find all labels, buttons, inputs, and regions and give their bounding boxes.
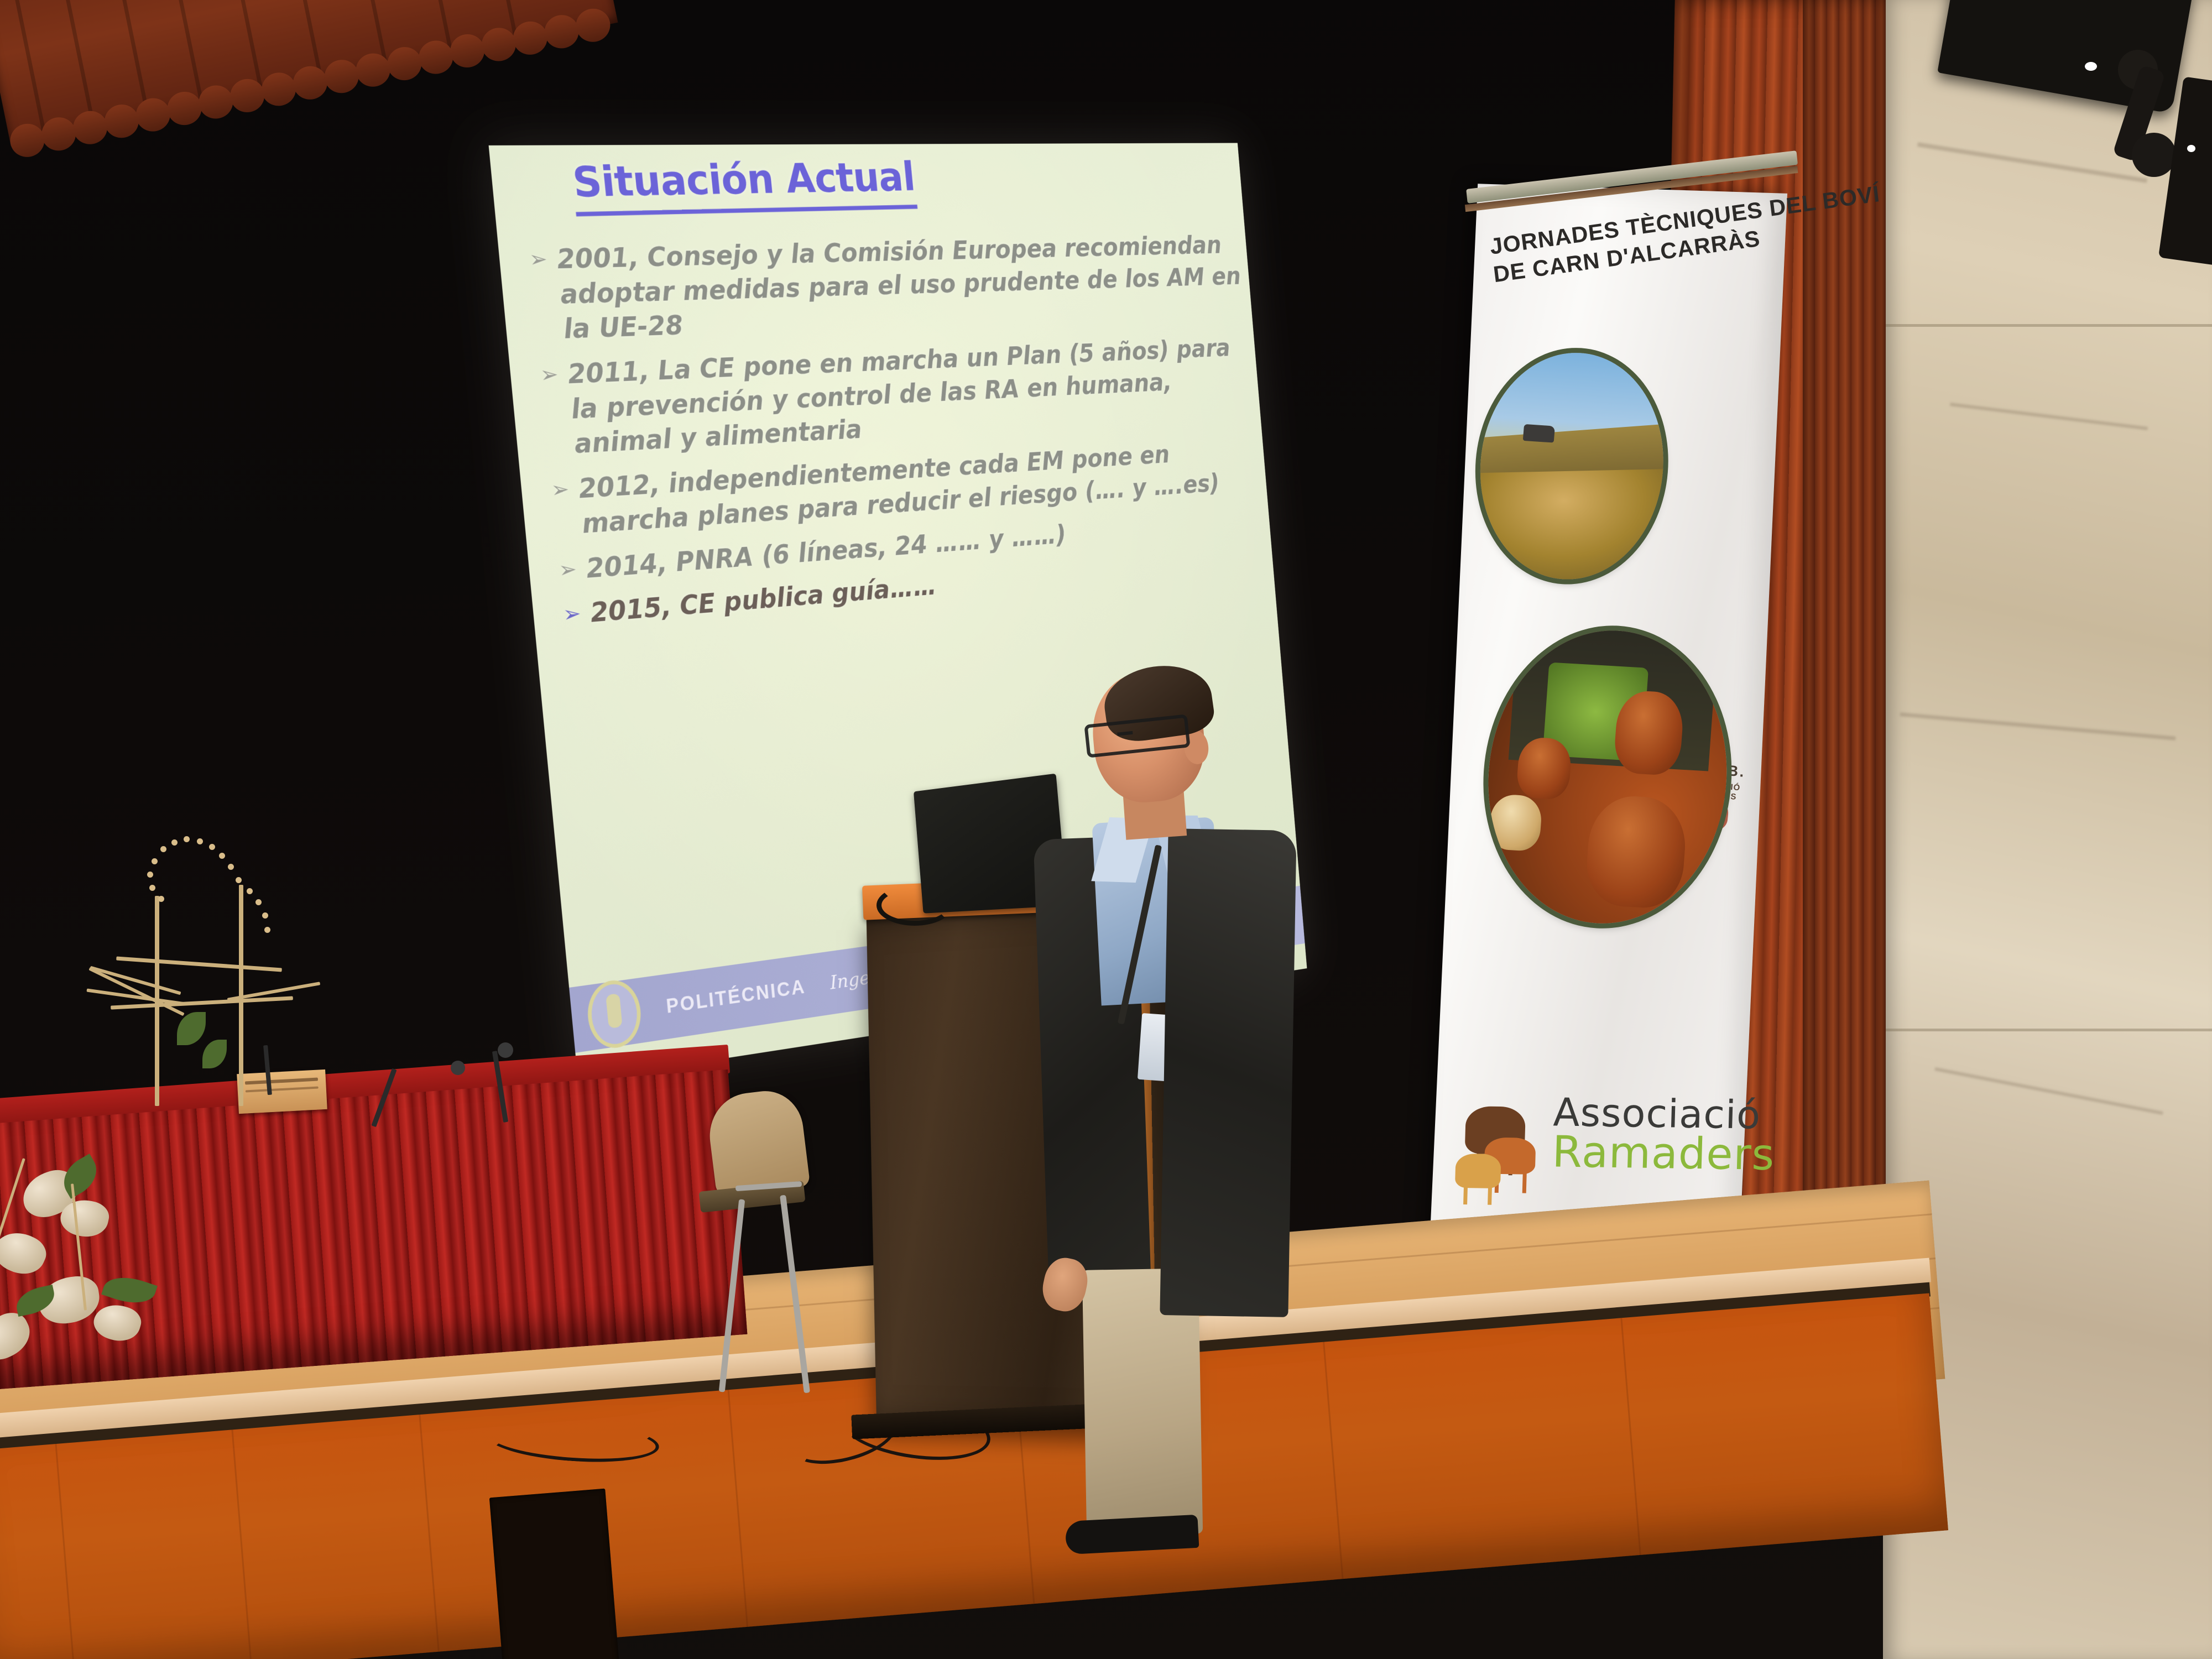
banner-photo-cattle	[1478, 624, 1736, 930]
banner-photo-pasture	[1472, 347, 1672, 585]
bullet-arrow-icon: ➢	[528, 242, 549, 277]
university-seal-icon	[585, 977, 644, 1052]
slide-footer-institution: POLITÉCNICA	[665, 975, 807, 1018]
three-cattle-silhouette-icon	[1451, 1103, 1548, 1209]
logo-line-ramaders: Ramaders	[1552, 1131, 1775, 1176]
dried-floral-arrangement-center	[94, 830, 326, 1139]
conference-stage-photo: Situación Actual ➢ 2001, Consejo y la Co…	[0, 0, 2212, 1659]
rollup-banner: JORNADES TÈCNIQUES DEL BOVÍ DE CARN D'AL…	[1426, 184, 1787, 1342]
slide-title: Situación Actual	[570, 153, 916, 206]
banner-headline: JORNADES TÈCNIQUES DEL BOVÍ DE CARN D'AL…	[1488, 196, 1770, 289]
shoe	[1065, 1515, 1199, 1554]
dried-floral-arrangement-left	[0, 1150, 260, 1394]
bullet-arrow-icon: ➢	[561, 597, 582, 632]
speaker-mount-joint-lower	[2132, 133, 2176, 177]
logo-wordmark: Associació Ramaders	[1552, 1094, 1776, 1176]
bullet-text: 2001, Consejo y la Comisión Europea reco…	[555, 229, 1245, 347]
speaker-highlight-2	[2187, 145, 2195, 152]
slide-bullet-list: ➢ 2001, Consejo y la Comisión Europea re…	[528, 229, 1267, 643]
laptop-cable	[877, 885, 953, 926]
microphone-head-2	[498, 1042, 513, 1058]
stage-front-vent	[489, 1489, 621, 1659]
presenter-person	[1053, 672, 1291, 1446]
bullet-arrow-icon: ➢	[539, 357, 560, 392]
jacket-right-panel	[1160, 828, 1296, 1317]
bullet-arrow-icon: ➢	[550, 472, 571, 507]
microphone-head-1	[451, 1061, 465, 1075]
bullet-arrow-icon: ➢	[557, 552, 578, 587]
slide-bullet: ➢ 2001, Consejo y la Comisión Europea re…	[528, 229, 1245, 348]
speaker-highlight	[2085, 62, 2097, 71]
